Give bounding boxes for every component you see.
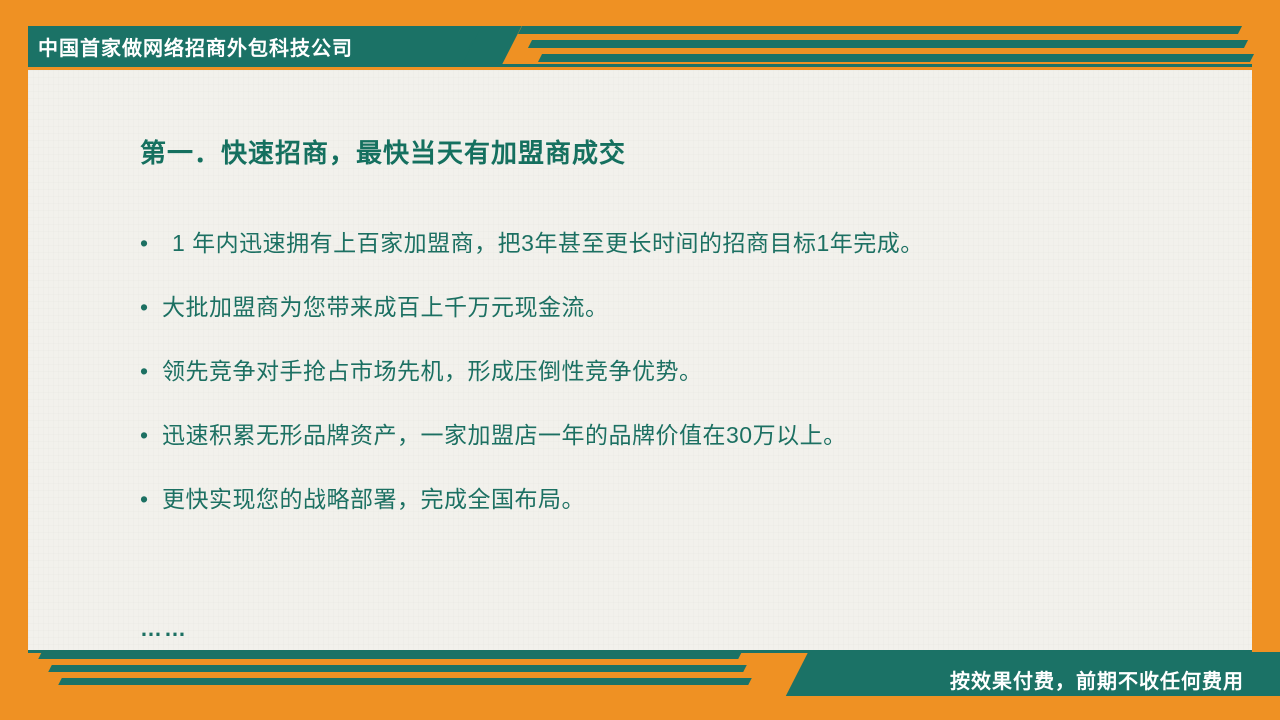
footer-bar: 按效果付费，前期不收任何费用 xyxy=(0,650,1280,720)
footer-divider-line xyxy=(28,650,1252,653)
header-title: 中国首家做网络招商外包科技公司 xyxy=(38,32,353,61)
slide: 中国首家做网络招商外包科技公司 第一．快速招商，最快当天有加盟商成交 • 1 年… xyxy=(0,0,1280,720)
bullet-marker-icon: • xyxy=(140,228,162,258)
list-item: • 迅速积累无形品牌资产，一家加盟店一年的品牌价值在30万以上。 xyxy=(140,420,1210,450)
bullet-marker-icon: • xyxy=(140,356,162,386)
footer-stripe-3 xyxy=(58,678,752,685)
list-item-text: 更快实现您的战略部署，完成全国布局。 xyxy=(162,484,585,514)
footer-banner-skew xyxy=(786,652,850,696)
header-banner-skew xyxy=(462,26,521,64)
list-item-text: 迅速积累无形品牌资产，一家加盟店一年的品牌价值在30万以上。 xyxy=(162,420,847,450)
header-stripe-1 xyxy=(518,26,1242,34)
header-stripe-3 xyxy=(538,54,1254,62)
footer-title: 按效果付费，前期不收任何费用 xyxy=(950,665,1244,694)
list-item-text: 大批加盟商为您带来成百上千万元现金流。 xyxy=(162,292,609,322)
ellipsis-text: …… xyxy=(140,616,188,642)
bullet-list: • 1 年内迅速拥有上百家加盟商，把3年甚至更长时间的招商目标1年完成。 • 大… xyxy=(140,228,1210,548)
header-stripe-2 xyxy=(528,40,1248,48)
list-item-text: 领先竞争对手抢占市场先机，形成压倒性竞争优势。 xyxy=(162,356,703,386)
footer-stripe-2 xyxy=(48,665,747,672)
header-divider-line xyxy=(28,64,1252,67)
list-item: • 领先竞争对手抢占市场先机，形成压倒性竞争优势。 xyxy=(140,356,1210,386)
bullet-marker-icon: • xyxy=(140,420,162,450)
page-title: 第一．快速招商，最快当天有加盟商成交 xyxy=(140,133,626,170)
header-bar: 中国首家做网络招商外包科技公司 xyxy=(0,0,1280,70)
list-item-text: 1 年内迅速拥有上百家加盟商，把3年甚至更长时间的招商目标1年完成。 xyxy=(162,228,924,258)
list-item: • 1 年内迅速拥有上百家加盟商，把3年甚至更长时间的招商目标1年完成。 xyxy=(140,228,1210,258)
list-item: • 更快实现您的战略部署，完成全国布局。 xyxy=(140,484,1210,514)
footer-stripe-1 xyxy=(38,652,742,659)
bullet-marker-icon: • xyxy=(140,484,162,514)
list-item: • 大批加盟商为您带来成百上千万元现金流。 xyxy=(140,292,1210,322)
bullet-marker-icon: • xyxy=(140,292,162,322)
